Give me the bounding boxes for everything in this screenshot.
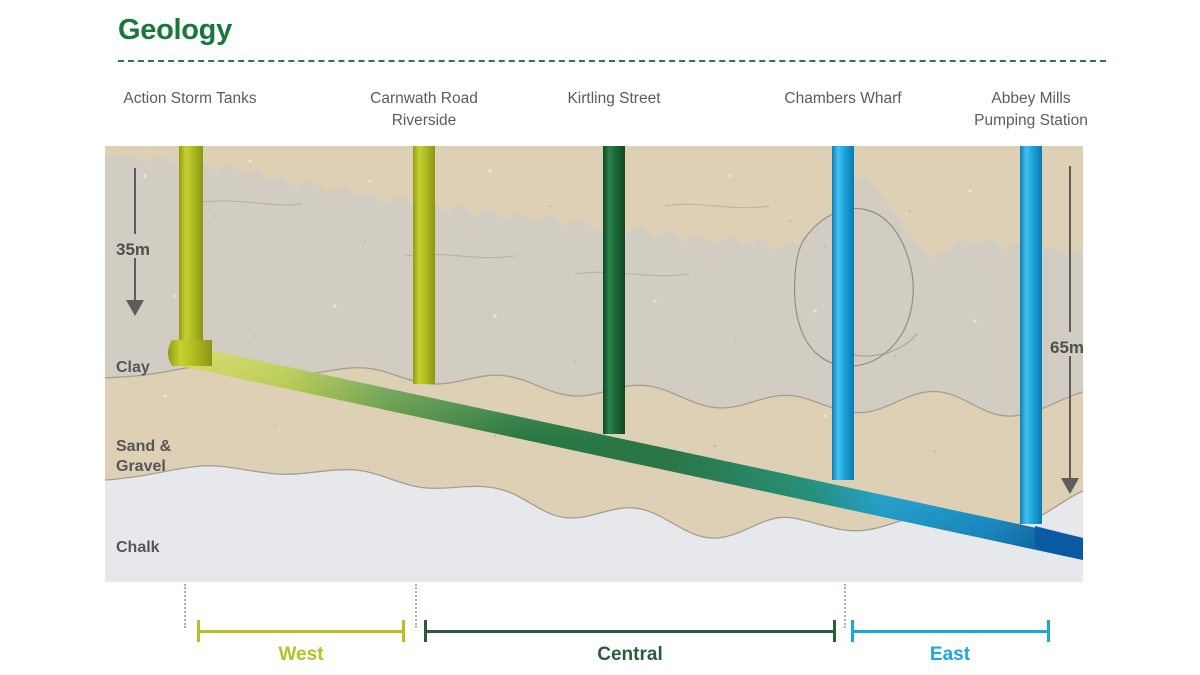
- leader-central-end: [844, 584, 846, 628]
- leader-west-end: [415, 584, 417, 628]
- depth-35m-line-lower: [134, 258, 136, 300]
- shaft-label-kirtling-street: Kirtling Street: [504, 88, 724, 110]
- title-divider: [118, 60, 1106, 62]
- shaft-label-abbey-mills-pumping-station: Abbey Mills Pumping Station: [921, 88, 1141, 132]
- bracket-tick-central-start: [424, 620, 427, 642]
- geology-svg: [105, 146, 1083, 582]
- layer-label-sand-gravel: Sand & Gravel: [116, 437, 171, 477]
- page-title: Geology: [118, 14, 232, 47]
- geology-cross-section-page: Geology Action Storm TanksCarnwath Road …: [0, 0, 1200, 675]
- bracket-tick-east-start: [851, 620, 854, 642]
- section-label-central: Central: [540, 644, 720, 666]
- shaft-chambers-wharf: [832, 146, 854, 480]
- bracket-bar-east: [851, 630, 1050, 633]
- bracket-tick-east-end: [1047, 620, 1050, 642]
- bracket-tick-west-end: [402, 620, 405, 642]
- bracket-tick-central-end: [833, 620, 836, 642]
- leader-west-start: [184, 584, 186, 628]
- bracket-bar-west: [197, 630, 405, 633]
- depth-65m-line-lower: [1069, 356, 1071, 478]
- depth-35m-value: 35m: [116, 240, 150, 260]
- shaft-label-action-storm-tanks: Action Storm Tanks: [80, 88, 300, 110]
- section-label-west: West: [211, 644, 391, 666]
- cross-section-diagram: ClaySand & GravelChalk 35m65m: [105, 146, 1083, 582]
- shaft-kirtling-street: [603, 146, 625, 434]
- depth-65m-arrowhead-icon: [1061, 478, 1079, 494]
- bracket-tick-west-start: [197, 620, 200, 642]
- shaft-label-carnwath-road-riverside: Carnwath Road Riverside: [314, 88, 534, 132]
- layer-label-chalk: Chalk: [116, 538, 160, 558]
- section-label-east: East: [860, 644, 1040, 666]
- bracket-bar-central: [424, 630, 836, 633]
- shaft-carnwath-road-riverside: [413, 146, 435, 384]
- depth-65m-value: 65m: [1050, 338, 1083, 358]
- shaft-label-chambers-wharf: Chambers Wharf: [733, 88, 953, 110]
- layer-label-clay: Clay: [116, 358, 150, 378]
- depth-65m-line-upper: [1069, 166, 1071, 332]
- depth-35m-line-upper: [134, 168, 136, 234]
- depth-35m-arrowhead-icon: [126, 300, 144, 316]
- shaft-abbey-mills-pumping-station: [1020, 146, 1042, 524]
